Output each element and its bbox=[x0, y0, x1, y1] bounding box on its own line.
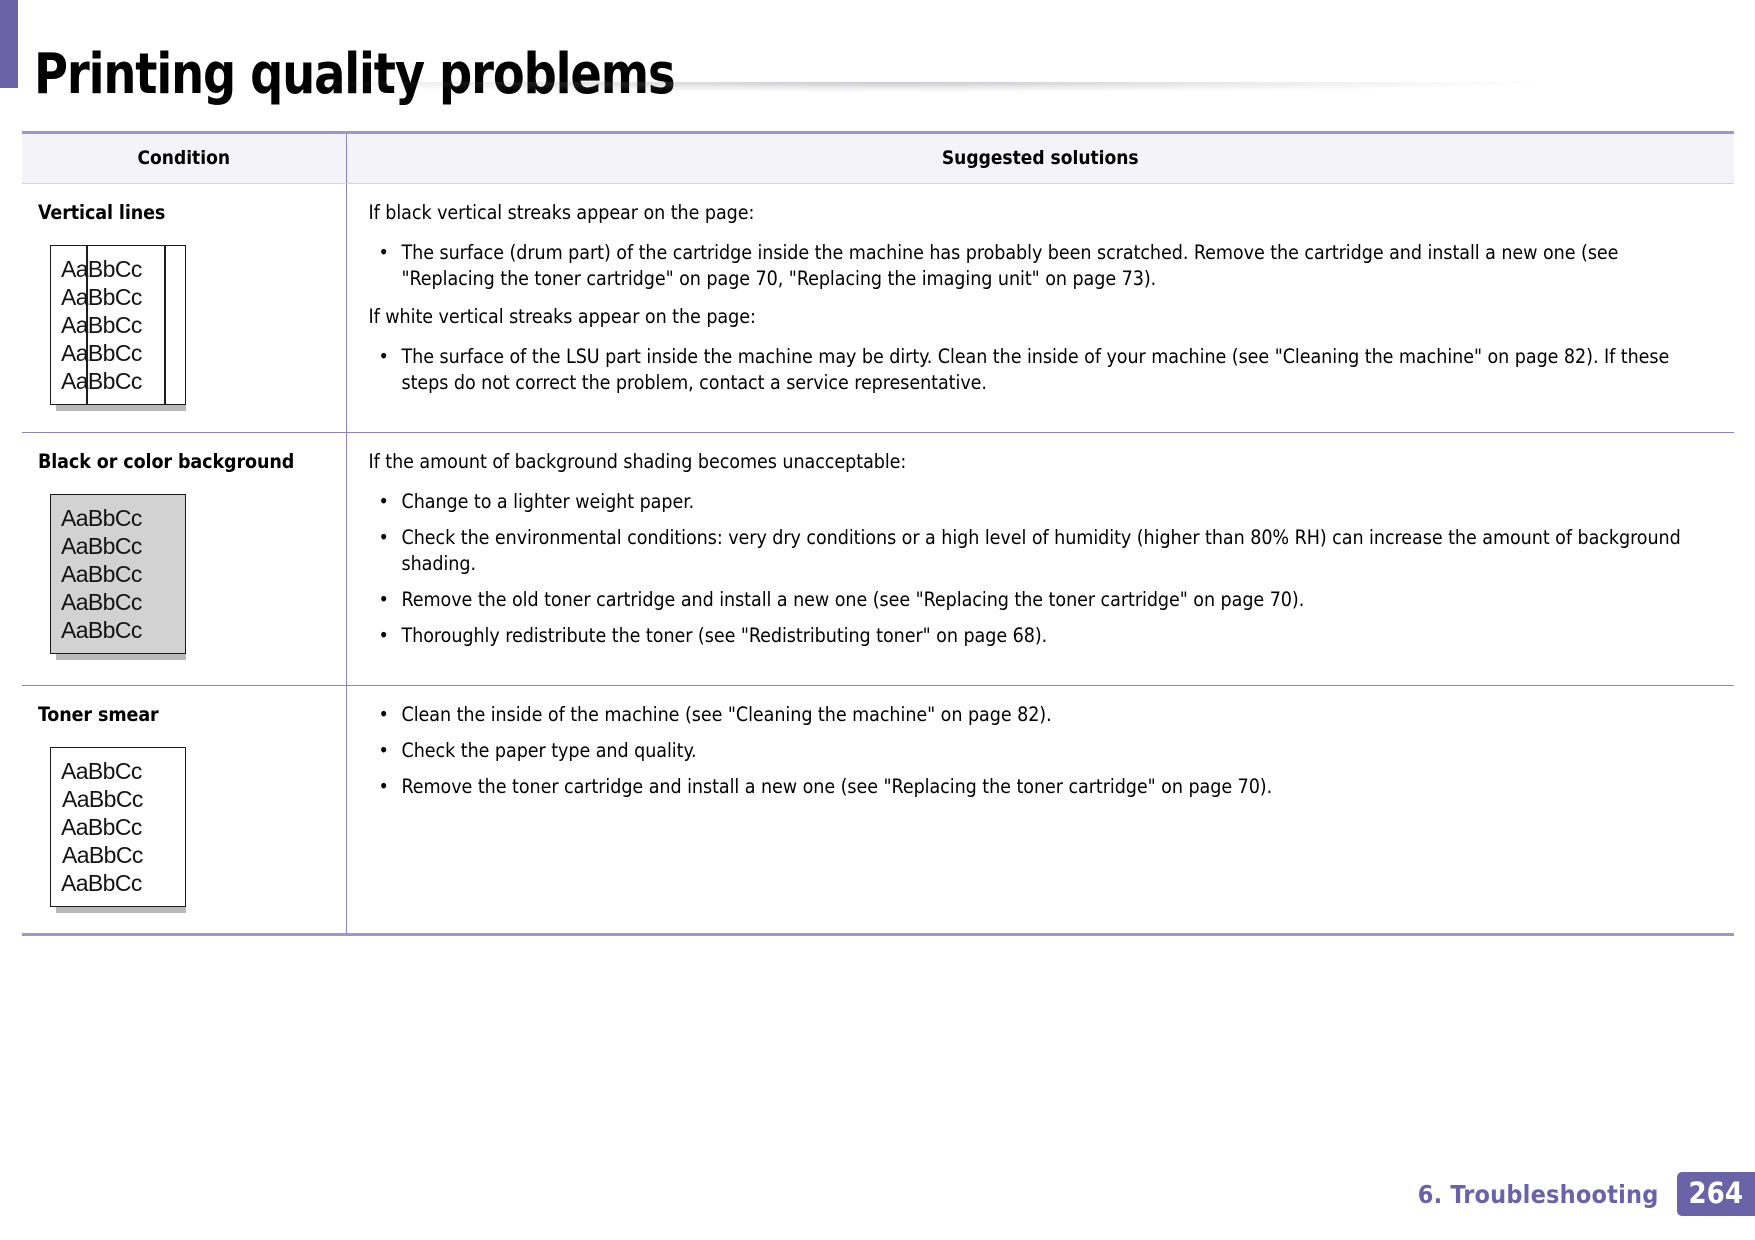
condition-label: Black or color background bbox=[38, 450, 346, 473]
bullet-dot-icon: • bbox=[379, 525, 389, 551]
sample-page-shaded-background: AaBbCcAaBbCcAaBbCcAaBbCcAaBbCc bbox=[50, 494, 186, 654]
sample-page-smeared: AaBbCcAaBbCcAaBbCcAaBbCcAaBbCc bbox=[50, 747, 186, 907]
bullet-dot-icon: • bbox=[379, 240, 389, 266]
solution-cell: If the amount of background shading beco… bbox=[346, 433, 1734, 686]
sample-text-line: AaBbCc bbox=[61, 588, 177, 616]
page-title: Printing quality problems bbox=[34, 36, 674, 114]
solution-bullet-item: •Clean the inside of the machine (see "C… bbox=[369, 702, 1713, 728]
table-row: Toner smearAaBbCcAaBbCcAaBbCcAaBbCcAaBbC… bbox=[22, 686, 1734, 935]
solution-bullet-text: Remove the old toner cartridge and insta… bbox=[402, 588, 1305, 611]
solution-bullet-item: •Check the environmental conditions: ver… bbox=[369, 525, 1713, 577]
sample-text-line: AaBbCc bbox=[61, 869, 177, 897]
bullet-dot-icon: • bbox=[379, 489, 389, 515]
bullet-dot-icon: • bbox=[379, 344, 389, 370]
column-header-condition: Condition bbox=[22, 133, 346, 184]
sample-print-image: AaBbCcAaBbCcAaBbCcAaBbCcAaBbCc bbox=[50, 747, 186, 907]
solution-bullet-item: •Remove the old toner cartridge and inst… bbox=[369, 587, 1713, 613]
printing-quality-problems-table: Condition Suggested solutions Vertical l… bbox=[22, 131, 1734, 936]
sample-text-line: AaBbCc bbox=[61, 283, 177, 311]
sample-print-image: AaBbCcAaBbCcAaBbCcAaBbCcAaBbCc bbox=[50, 245, 186, 405]
solution-bullet-item: •Check the paper type and quality. bbox=[369, 738, 1713, 764]
solution-bullet-item: •The surface (drum part) of the cartridg… bbox=[369, 240, 1713, 292]
sample-text-line: AaBbCc bbox=[61, 504, 177, 532]
condition-cell: Black or color backgroundAaBbCcAaBbCcAaB… bbox=[22, 433, 346, 686]
sample-text-line: AaBbCc bbox=[61, 616, 177, 644]
solution-bullet-text: Remove the toner cartridge and install a… bbox=[402, 775, 1273, 798]
solution-paragraph: If the amount of background shading beco… bbox=[369, 449, 1713, 475]
sample-text-line: AaBbCc bbox=[62, 841, 177, 869]
solution-bullet-list: •Change to a lighter weight paper.•Check… bbox=[369, 489, 1713, 649]
solution-paragraph: If black vertical streaks appear on the … bbox=[369, 200, 1713, 226]
solution-bullet-item: •The surface of the LSU part inside the … bbox=[369, 344, 1713, 396]
bullet-dot-icon: • bbox=[379, 738, 389, 764]
table-body: Vertical linesAaBbCcAaBbCcAaBbCcAaBbCcAa… bbox=[22, 184, 1734, 935]
solution-bullet-text: Change to a lighter weight paper. bbox=[402, 490, 695, 513]
condition-label: Vertical lines bbox=[38, 201, 346, 224]
solution-bullet-text: Check the environmental conditions: very… bbox=[402, 526, 1681, 575]
solution-bullet-text: The surface (drum part) of the cartridge… bbox=[402, 241, 1619, 290]
condition-cell: Toner smearAaBbCcAaBbCcAaBbCcAaBbCcAaBbC… bbox=[22, 686, 346, 935]
solution-bullet-text: The surface of the LSU part inside the m… bbox=[402, 345, 1670, 394]
solution-paragraph: If white vertical streaks appear on the … bbox=[369, 304, 1713, 330]
left-accent-bar bbox=[0, 0, 18, 88]
bullet-dot-icon: • bbox=[379, 623, 389, 649]
condition-cell: Vertical linesAaBbCcAaBbCcAaBbCcAaBbCcAa… bbox=[22, 184, 346, 433]
bullet-dot-icon: • bbox=[379, 702, 389, 728]
solution-bullet-list: •The surface of the LSU part inside the … bbox=[369, 344, 1713, 396]
sample-text-line: AaBbCc bbox=[61, 532, 177, 560]
footer-chapter-label: 6. Troubleshooting bbox=[1418, 1180, 1659, 1209]
footer-page-number: 264 bbox=[1677, 1172, 1755, 1216]
solution-cell: If black vertical streaks appear on the … bbox=[346, 184, 1734, 433]
bullet-dot-icon: • bbox=[379, 774, 389, 800]
sample-text-line: AaBbCc bbox=[61, 311, 177, 339]
sample-text-line: AaBbCc bbox=[61, 560, 177, 588]
solution-bullet-list: •Clean the inside of the machine (see "C… bbox=[369, 702, 1713, 800]
bullet-dot-icon: • bbox=[379, 587, 389, 613]
solution-bullet-item: •Change to a lighter weight paper. bbox=[369, 489, 1713, 515]
condition-label: Toner smear bbox=[38, 703, 346, 726]
sample-text-line: AaBbCc bbox=[61, 757, 177, 785]
table-row: Vertical linesAaBbCcAaBbCcAaBbCcAaBbCcAa… bbox=[22, 184, 1734, 433]
solution-bullet-text: Thoroughly redistribute the toner (see "… bbox=[402, 624, 1048, 647]
solution-bullet-text: Clean the inside of the machine (see "Cl… bbox=[402, 703, 1052, 726]
solution-cell: •Clean the inside of the machine (see "C… bbox=[346, 686, 1734, 935]
table-row: Black or color backgroundAaBbCcAaBbCcAaB… bbox=[22, 433, 1734, 686]
sample-print-image: AaBbCcAaBbCcAaBbCcAaBbCcAaBbCc bbox=[50, 494, 186, 654]
solution-bullet-item: •Remove the toner cartridge and install … bbox=[369, 774, 1713, 800]
sample-text-line: AaBbCc bbox=[61, 339, 177, 367]
sample-text-line: AaBbCc bbox=[61, 367, 177, 395]
table-header: Condition Suggested solutions bbox=[22, 133, 1734, 184]
solution-bullet-list: •The surface (drum part) of the cartridg… bbox=[369, 240, 1713, 292]
table-header-row: Condition Suggested solutions bbox=[22, 133, 1734, 184]
sample-text-line: AaBbCc bbox=[61, 255, 177, 283]
sample-page-vertical-streaks: AaBbCcAaBbCcAaBbCcAaBbCcAaBbCc bbox=[50, 245, 186, 405]
solution-bullet-item: •Thoroughly redistribute the toner (see … bbox=[369, 623, 1713, 649]
column-header-suggested-solutions: Suggested solutions bbox=[346, 133, 1734, 184]
sample-text-line: AaBbCc bbox=[61, 813, 177, 841]
page-footer: 6. Troubleshooting 264 bbox=[1418, 1172, 1755, 1216]
sample-text-line: AaBbCc bbox=[62, 785, 177, 813]
solution-bullet-text: Check the paper type and quality. bbox=[402, 739, 697, 762]
